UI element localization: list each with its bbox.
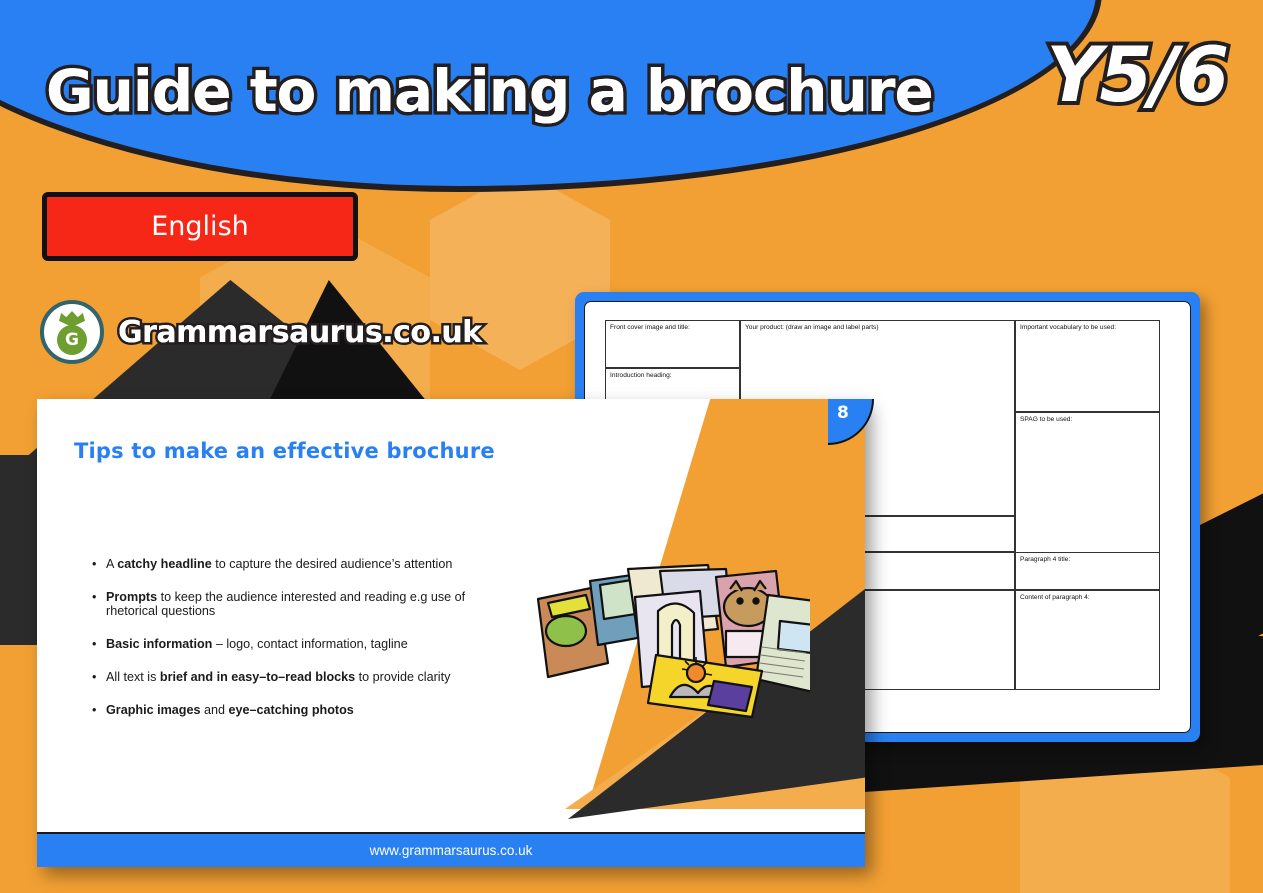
tips-list-item: Prompts to keep the audience interested …	[106, 590, 512, 618]
slide-preview[interactable]: Tips to make an effective brochure A cat…	[37, 399, 865, 867]
brand-row: G Grammarsaurus.co.uk Grammarsaurus.co.u…	[40, 300, 482, 364]
slide-footer-url: www.grammarsaurus.co.uk	[370, 843, 533, 858]
worksheet-cell-front-cover: Front cover image and title:	[605, 320, 740, 368]
worksheet-cell-content-paragraph-4: Content of paragraph 4:	[1015, 590, 1160, 690]
page-title: Guide to making a brochure	[46, 57, 933, 125]
poster-canvas: Guide to making a brochure Guide to maki…	[0, 0, 1263, 893]
stack-of-brochures-illustration	[530, 551, 810, 741]
subject-pill-label: English	[151, 211, 249, 242]
slide-title: Tips to make an effective brochure	[74, 439, 495, 463]
worksheet-cell-paragraph-4-title: Paragraph 4 title:	[1015, 552, 1160, 590]
brand-name: Grammarsaurus.co.uk	[118, 315, 482, 350]
tips-list-item: All text is brief and in easy–to–read bl…	[106, 670, 512, 684]
tips-list-item: A catchy headline to capture the desired…	[106, 557, 512, 571]
worksheet-cell-important-vocabulary: Important vocabulary to be used:	[1015, 320, 1160, 412]
logo-letter: G	[57, 325, 87, 355]
header-banner-fill	[0, 0, 760, 40]
tips-list-item: Graphic images and eye–catching photos	[106, 703, 512, 717]
tips-list: A catchy headline to capture the desired…	[92, 557, 512, 718]
subject-pill: English	[42, 192, 358, 261]
slide-footer: www.grammarsaurus.co.uk	[37, 832, 865, 867]
year-group-badge: Y5/6	[1046, 30, 1227, 119]
grammarsaurus-logo-icon: G	[40, 300, 104, 364]
tips-list-item: Basic information – logo, contact inform…	[106, 637, 512, 651]
page-number: 8	[837, 403, 849, 423]
tips-bullet-list: A catchy headline to capture the desired…	[92, 557, 512, 737]
